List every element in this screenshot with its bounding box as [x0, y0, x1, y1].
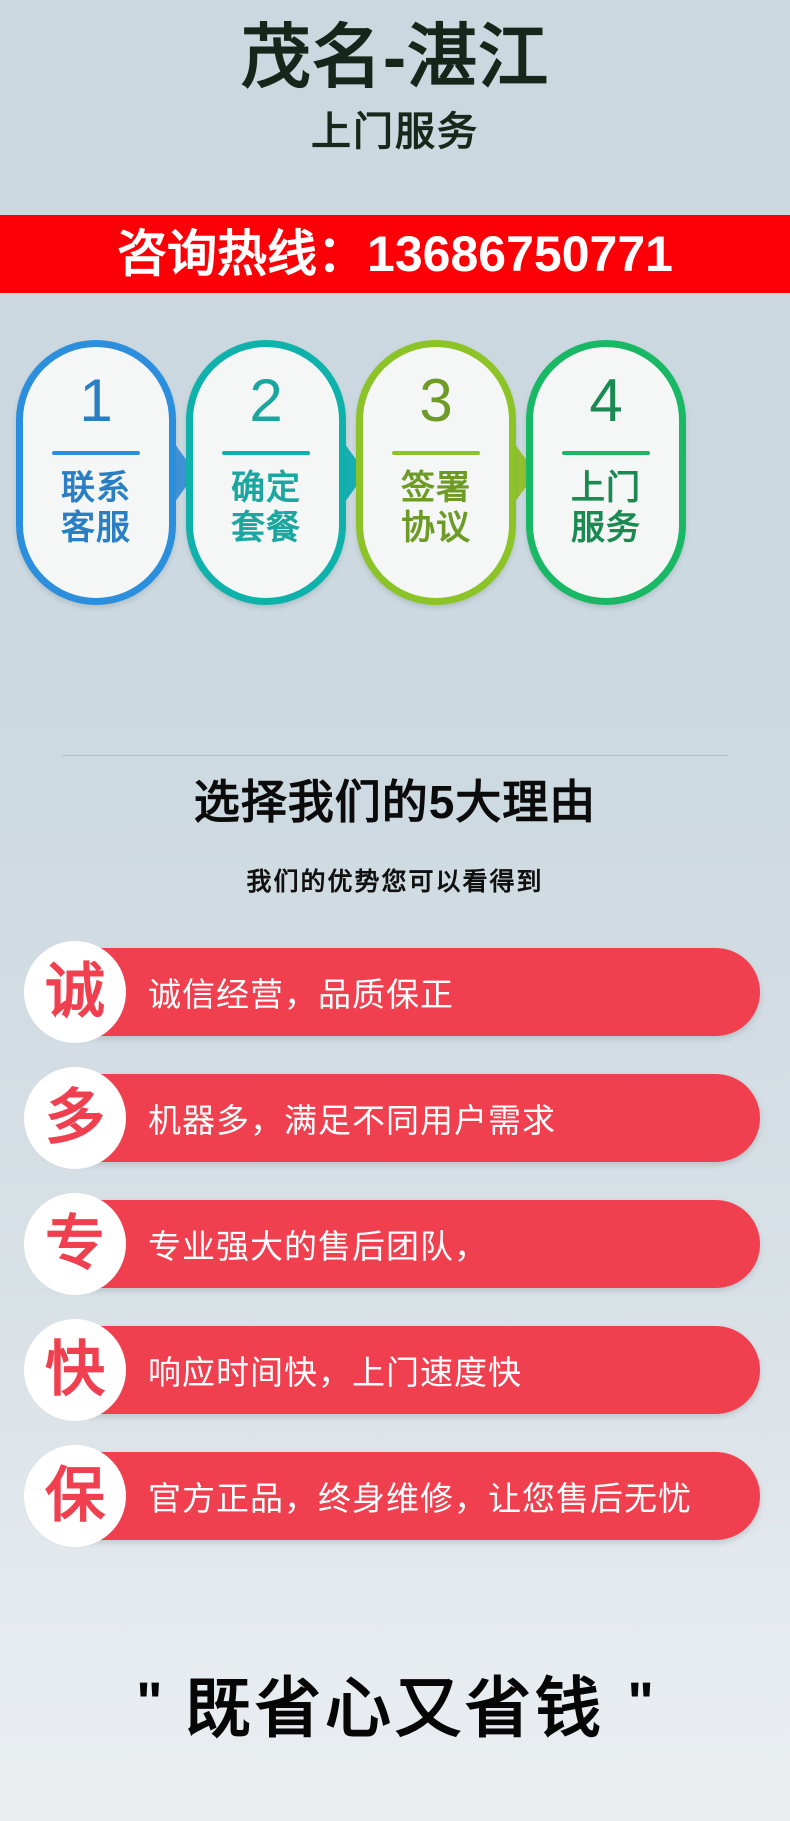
reason-badge-char: 专: [45, 1214, 105, 1274]
reason-text: 机器多，满足不同用户需求: [148, 1074, 556, 1162]
list-item[interactable]: 诚 诚信经营，品质保正: [0, 948, 790, 1036]
reason-badge: 诚: [24, 941, 126, 1043]
list-item[interactable]: 快 响应时间快，上门速度快: [0, 1326, 790, 1414]
reason-badge: 快: [24, 1319, 126, 1421]
step-label-3: 签署协议: [401, 468, 471, 548]
step-label-line2-2: 套餐: [231, 509, 301, 547]
step-divider-2: [222, 451, 310, 455]
reason-badge-char: 快: [45, 1340, 105, 1400]
reason-badge-char: 保: [45, 1466, 105, 1526]
reason-badge-char: 多: [45, 1088, 105, 1148]
reason-badge: 专: [24, 1193, 126, 1295]
reason-text: 官方正品，终身维修，让您售后无忧: [148, 1452, 692, 1540]
list-item[interactable]: 专 专业强大的售后团队，: [0, 1200, 790, 1288]
step-card-body-1: 1 联系客服: [16, 340, 176, 605]
quote-open-icon: ": [136, 1670, 163, 1733]
step-number-3: 3: [419, 371, 452, 431]
step-label-4: 上门服务: [571, 468, 641, 548]
header-banner: 茂名-湛江 上门服务: [0, 0, 790, 215]
reason-text: 诚信经营，品质保正: [148, 948, 454, 1036]
step-label-line2-3: 协议: [401, 509, 471, 547]
step-label-line2-1: 客服: [61, 509, 131, 547]
step-label-line1-4: 上门: [571, 469, 641, 507]
footer-slogan: " 既省心又省钱 ": [0, 1667, 790, 1750]
step-card-body-3: 3 签署协议: [356, 340, 516, 605]
step-card-2[interactable]: 2 确定套餐: [186, 340, 346, 605]
reasons-subtitle: 我们的优势您可以看得到: [0, 862, 790, 898]
section-divider: [62, 755, 728, 756]
reasons-title: 选择我们的5大理由: [0, 766, 790, 832]
list-item[interactable]: 保 官方正品，终身维修，让您售后无忧: [0, 1452, 790, 1540]
quote-close-icon: ": [627, 1670, 654, 1733]
page-title: 茂名-湛江: [0, 18, 790, 96]
step-divider-4: [562, 451, 650, 455]
step-label-2: 确定套餐: [231, 468, 301, 548]
reason-text: 专业强大的售后团队，: [148, 1200, 488, 1288]
step-card-body-4: 4 上门服务: [526, 340, 686, 605]
hotline-bar[interactable]: 咨询热线：13686750771: [0, 215, 790, 293]
process-steps: 1 联系客服 2 确定套餐 3 签署协议 4 上门服务: [0, 330, 790, 620]
step-number-4: 4: [589, 371, 622, 431]
page-subtitle: 上门服务: [0, 108, 790, 156]
list-item[interactable]: 多 机器多，满足不同用户需求: [0, 1074, 790, 1162]
step-label-line2-4: 服务: [571, 509, 641, 547]
reason-badge: 保: [24, 1445, 126, 1547]
step-label-line1-2: 确定: [231, 469, 301, 507]
step-label-line1-3: 签署: [401, 469, 471, 507]
step-divider-3: [392, 451, 480, 455]
step-number-2: 2: [249, 371, 282, 431]
step-label-line1-1: 联系: [61, 469, 131, 507]
step-divider-1: [52, 451, 140, 455]
step-card-body-2: 2 确定套餐: [186, 340, 346, 605]
step-card-4[interactable]: 4 上门服务: [526, 340, 686, 605]
step-card-3[interactable]: 3 签署协议: [356, 340, 516, 605]
step-card-1[interactable]: 1 联系客服: [16, 340, 176, 605]
reason-badge: 多: [24, 1067, 126, 1169]
step-number-1: 1: [79, 371, 112, 431]
hotline-text: 咨询热线：13686750771: [117, 229, 673, 279]
footer-slogan-text: 既省心又省钱: [185, 1671, 605, 1745]
step-label-1: 联系客服: [61, 468, 131, 548]
reason-text: 响应时间快，上门速度快: [148, 1326, 522, 1414]
reason-badge-char: 诚: [45, 962, 105, 1022]
reasons-list: 诚 诚信经营，品质保正 多 机器多，满足不同用户需求 专 专业强大的售后团队， …: [0, 948, 790, 1578]
